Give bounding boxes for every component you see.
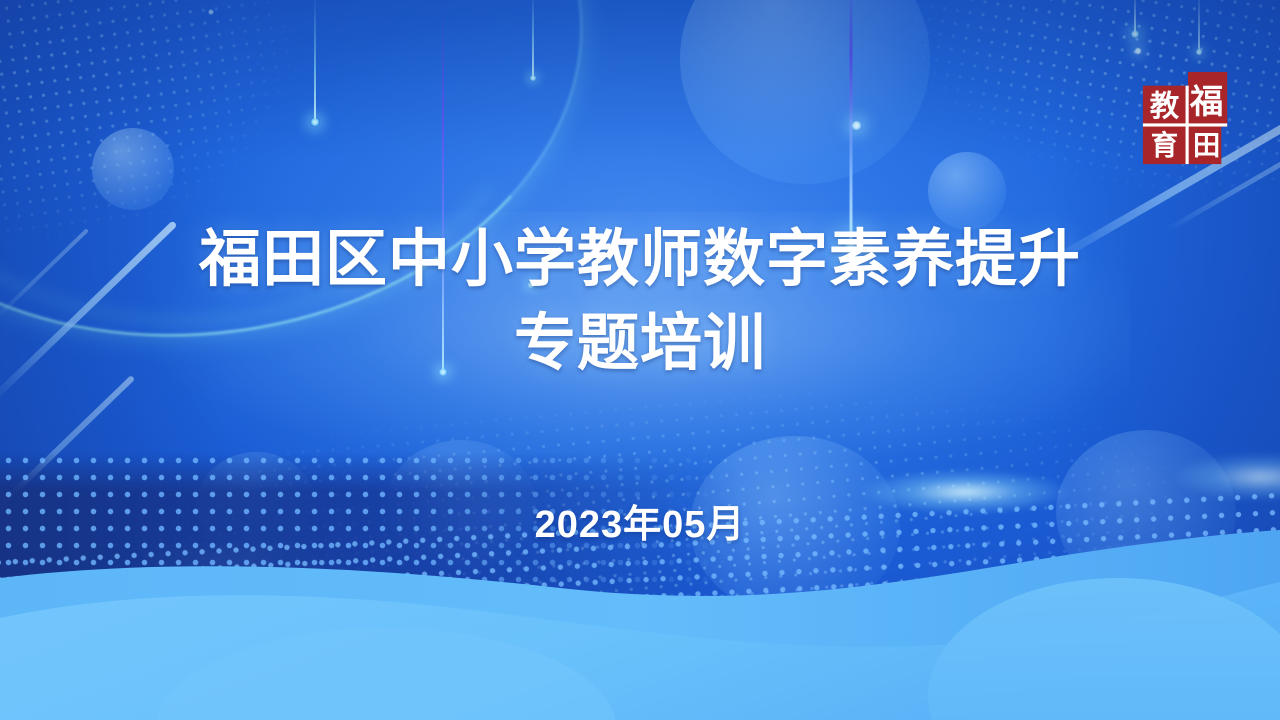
seal-divider-vertical (1186, 86, 1189, 164)
seal-char-bottom-left: 育 (1151, 129, 1178, 160)
page-title: 福田区中小学教师数字素养提升 专题培训 (0, 218, 1280, 386)
seal-icon: 教 福 育 田 (1139, 70, 1237, 168)
title-line-2: 专题培训 (0, 302, 1280, 386)
title-line-1: 福田区中小学教师数字素养提升 (0, 218, 1280, 302)
seal-char-bottom-right: 田 (1193, 130, 1220, 160)
seal-divider-horizontal (1143, 123, 1227, 126)
slide-date: 2023年05月 (0, 493, 1280, 548)
title-slide: 福田区中小学教师数字素养提升 专题培训 2023年05月 教 福 育 田 (0, 0, 1280, 720)
seal-char-top-right: 福 (1189, 84, 1223, 121)
seal-char-top-left: 教 (1150, 90, 1180, 123)
futian-education-seal-logo: 教 福 育 田 (1139, 70, 1237, 168)
